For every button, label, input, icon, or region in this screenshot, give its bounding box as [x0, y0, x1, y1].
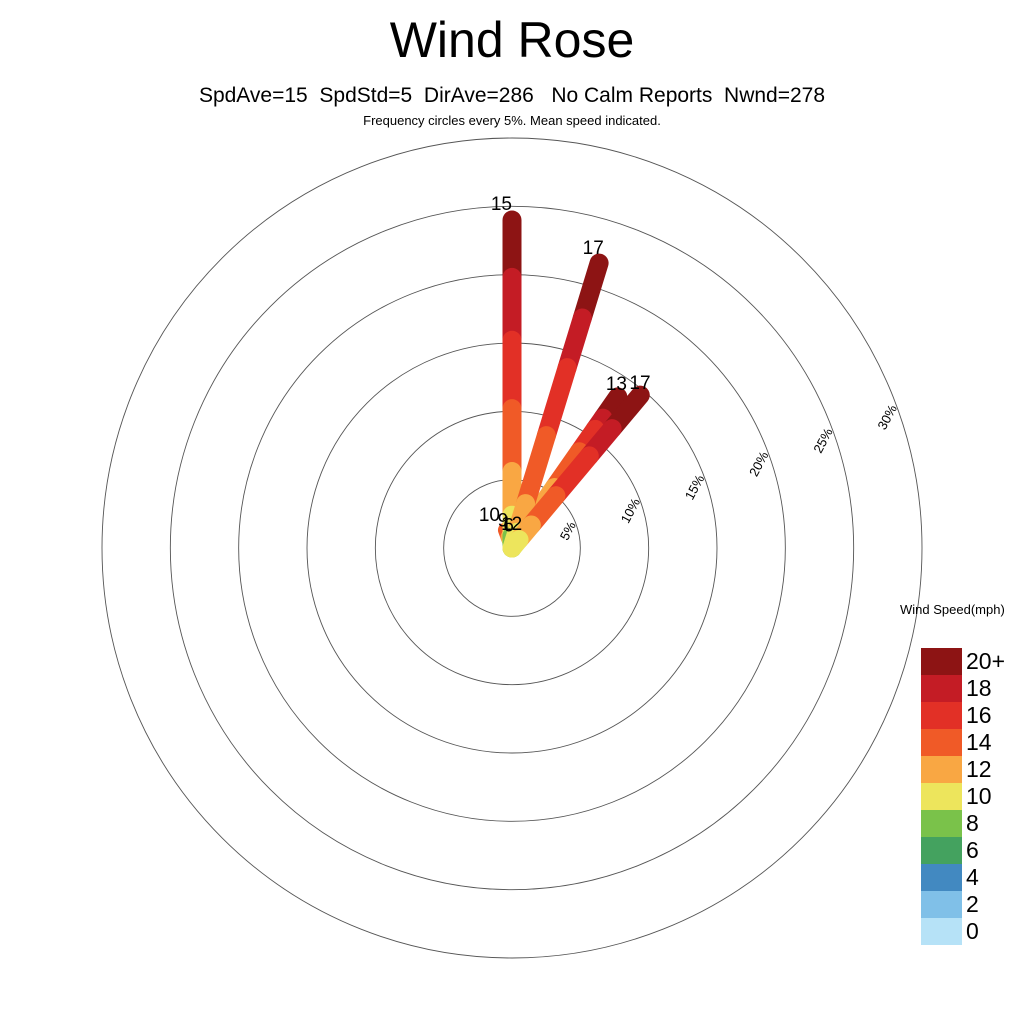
legend-row: 8 [921, 810, 1024, 837]
wind-rose-page: Wind Rose SpdAve=15 SpdStd=5 DirAve=286 … [0, 0, 1024, 1024]
legend-color-swatch [921, 675, 962, 702]
legend-label: 4 [966, 864, 1024, 891]
petal-mean-speed-label: 13 [606, 374, 627, 395]
legend-label: 20+ [966, 648, 1024, 675]
wind-rose-plot: 5%10%15%20%25%30% 10961213151717 [0, 0, 1024, 1024]
legend-color-swatch [921, 648, 962, 675]
legend-label: 14 [966, 729, 1024, 756]
legend-row: 2 [921, 891, 1024, 918]
legend-label: 2 [966, 891, 1024, 918]
legend-row: 18 [921, 675, 1024, 702]
legend-row: 14 [921, 729, 1024, 756]
petal-mean-speed-label: 12 [501, 514, 522, 535]
legend-row: 6 [921, 837, 1024, 864]
legend-color-swatch [921, 783, 962, 810]
legend-label: 8 [966, 810, 1024, 837]
legend-color-swatch [921, 864, 962, 891]
legend-label: 16 [966, 702, 1024, 729]
legend-row: 16 [921, 702, 1024, 729]
legend-label: 6 [966, 837, 1024, 864]
petal-mean-speed-label: 17 [629, 373, 650, 394]
legend-color-swatch [921, 837, 962, 864]
petal-mean-speed-label: 17 [583, 238, 604, 259]
legend-label: 12 [966, 756, 1024, 783]
legend-row: 20+ [921, 648, 1024, 675]
legend-color-swatch [921, 918, 962, 945]
legend-color-swatch [921, 756, 962, 783]
legend-color-swatch [921, 891, 962, 918]
legend-row: 10 [921, 783, 1024, 810]
legend-label: 0 [966, 918, 1024, 945]
legend-color-swatch [921, 810, 962, 837]
legend-color-swatch [921, 729, 962, 756]
petal-speed-segment [512, 540, 519, 548]
legend-colorbar: 20+181614121086420 [921, 648, 1024, 945]
legend-color-swatch [921, 702, 962, 729]
legend-title: Wind Speed(mph) [900, 602, 1005, 618]
petal-mean-speed-label: 15 [491, 194, 512, 215]
legend-label: 10 [966, 783, 1024, 810]
petal-speed-segment [546, 368, 567, 436]
legend-row: 0 [921, 918, 1024, 945]
legend: Wind Speed(mph) 20+181614121086420 [900, 602, 1024, 947]
legend-row: 12 [921, 756, 1024, 783]
legend-label: 18 [966, 675, 1024, 702]
legend-row: 4 [921, 864, 1024, 891]
